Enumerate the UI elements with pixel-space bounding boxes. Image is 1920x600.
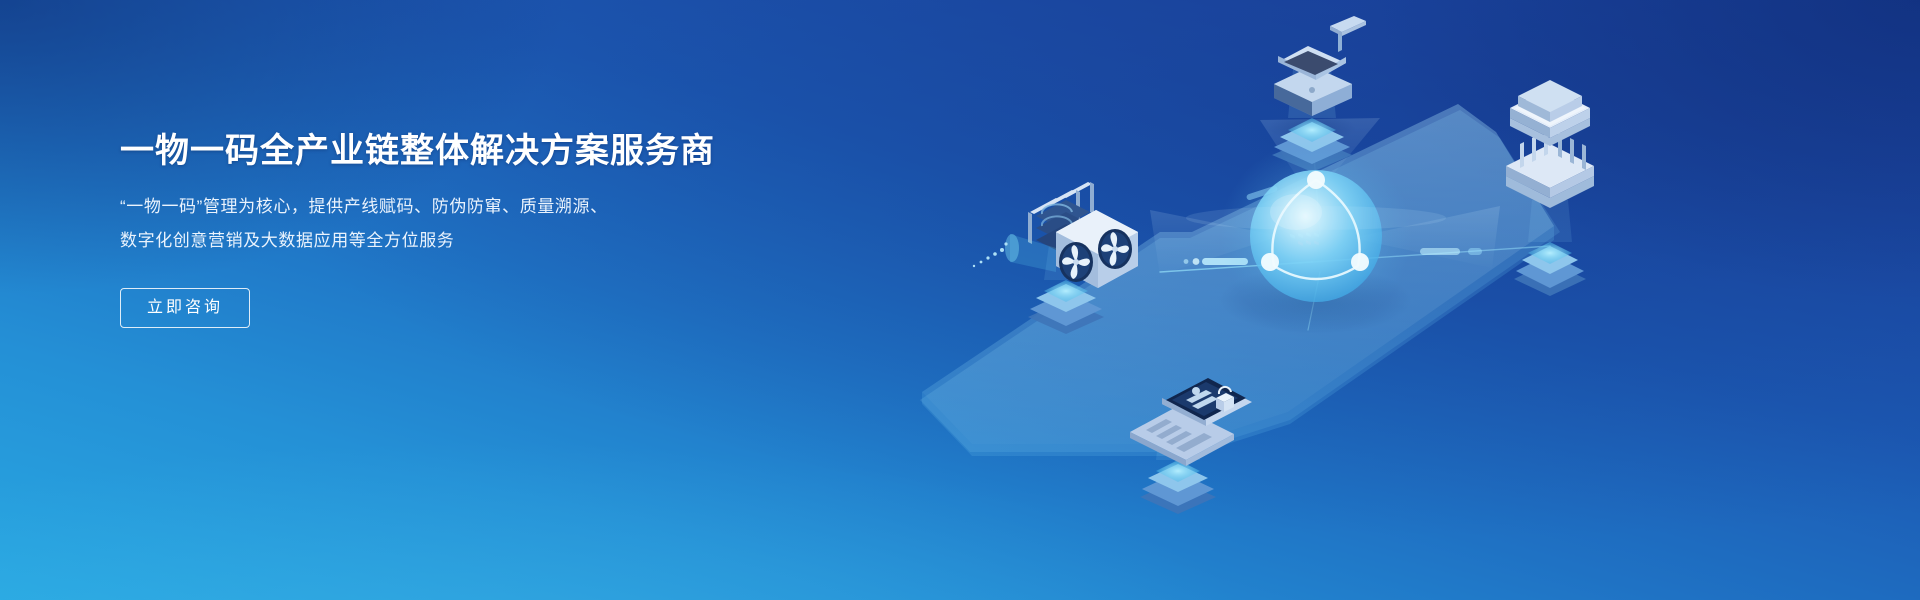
subtitle-line-1: “一物一码”管理为核心，提供产线赋码、防伪防窜、质量溯源、 <box>120 190 880 224</box>
fan-blade-left <box>1059 242 1093 282</box>
page-title: 一物一码全产业链整体解决方案服务商 <box>120 128 880 174</box>
fan-blade-right <box>1098 229 1132 269</box>
consult-now-button[interactable]: 立即咨询 <box>120 288 250 328</box>
subtitle-line-2: 数字化创意营销及大数据应用等全方位服务 <box>120 224 880 258</box>
hero-illustration <box>860 0 1640 600</box>
pedestal-pad-laptop <box>1140 460 1216 514</box>
hero-banner: 一物一码全产业链整体解决方案服务商 “一物一码”管理为核心，提供产线赋码、防伪防… <box>0 0 1920 600</box>
hero-copy: 一物一码全产业链整体解决方案服务商 “一物一码”管理为核心，提供产线赋码、防伪防… <box>120 128 880 328</box>
